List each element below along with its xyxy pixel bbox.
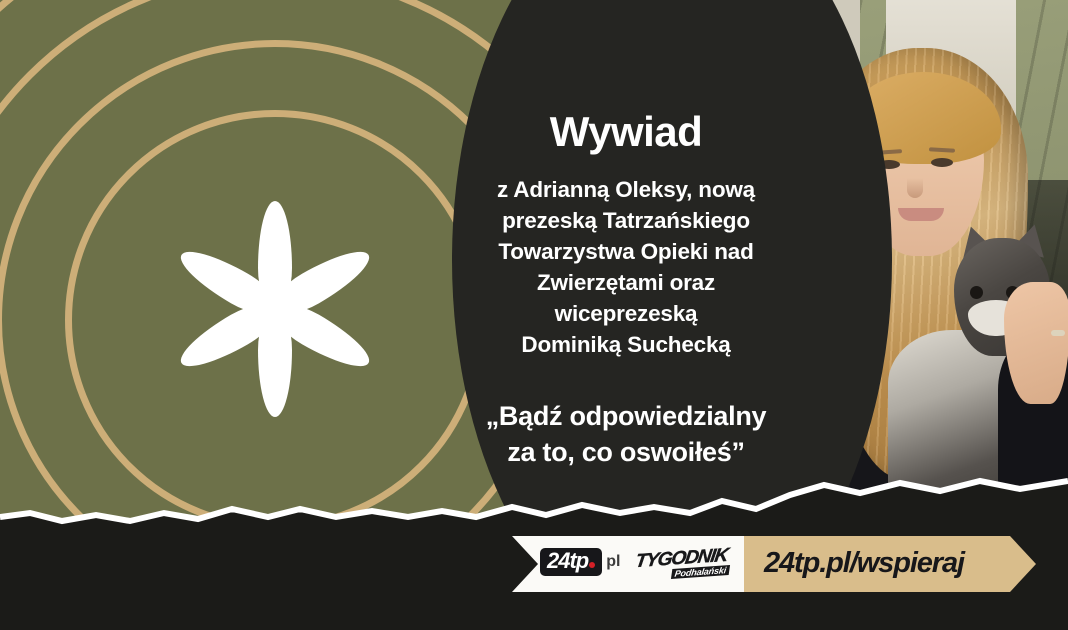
photo-person-hand	[1004, 282, 1068, 404]
photo-person-nose	[907, 178, 923, 198]
logo-24tp-pl: pl	[606, 553, 620, 571]
six-petal-flower-icon	[170, 215, 380, 395]
subhead-line: wiceprezeską	[452, 298, 800, 329]
subhead-line: Towarzystwa Opieki nad	[452, 236, 800, 267]
poster-subhead: z Adrianną Oleksy, nową prezeską Tatrzań…	[452, 174, 800, 360]
poster-canvas: ∂WP Wywiad z Adrianną Oleksy, nową preze…	[0, 0, 1068, 630]
photo-person-mouth	[898, 208, 944, 221]
subhead-line: prezeską Tatrzańskiego	[452, 205, 800, 236]
photo-cat-eye-left	[970, 286, 983, 299]
subhead-line: Zwierzętami oraz	[452, 267, 800, 298]
photo-person-eye-right	[931, 158, 953, 167]
logo-24tp-red-dot	[589, 562, 595, 568]
logo-24tp[interactable]: 24tp pl	[540, 548, 620, 576]
poster-headline: Wywiad	[452, 108, 800, 156]
logo-tygodnik-podhalanski[interactable]: TYGODNIK Podhalański	[636, 546, 740, 582]
quote-line: „Bądź odpowiedzialny	[452, 398, 800, 434]
photo-person-finger-ring	[1051, 330, 1065, 336]
banner-url-text[interactable]: 24tp.pl/wspieraj	[764, 547, 964, 580]
subhead-line: Dominiką Suchecką	[452, 329, 800, 360]
poster-text-block: Wywiad z Adrianną Oleksy, nową prezeską …	[452, 108, 800, 471]
subhead-line: z Adrianną Oleksy, nową	[452, 174, 800, 205]
logo-24tp-main: 24tp	[540, 548, 602, 576]
support-banner[interactable]: 24tp pl TYGODNIK Podhalański 24tp.pl/wsp…	[512, 536, 1036, 592]
